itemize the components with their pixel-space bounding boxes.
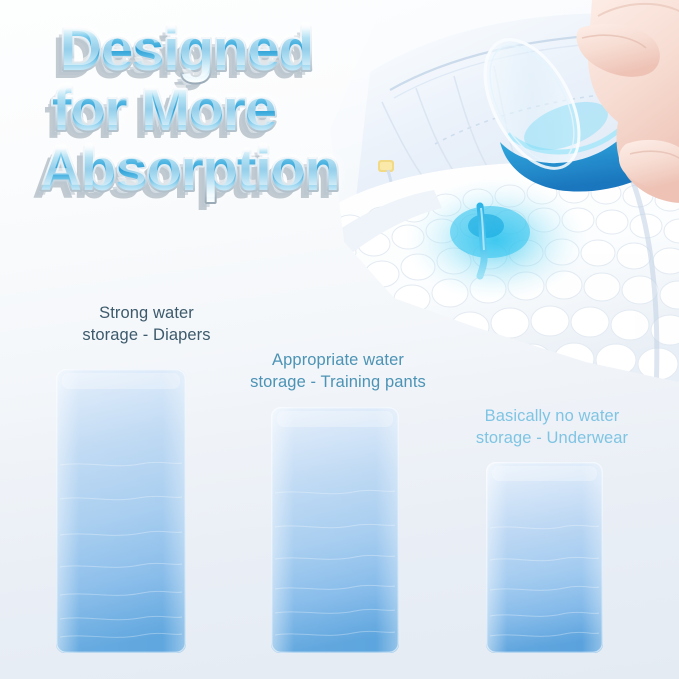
bar-training-pants bbox=[271, 407, 399, 653]
bar-underwear bbox=[486, 462, 603, 653]
bar-label-diapers: Strong water storage - Diapers bbox=[44, 303, 249, 347]
svg-text:for More: for More bbox=[52, 73, 276, 138]
infographic-canvas: Designed for More Absorption Designed fo… bbox=[0, 0, 679, 679]
bar-label-underwear: Basically no water storage - Underwear bbox=[452, 406, 652, 450]
bar-label-training-pants: Appropriate water storage - Training pan… bbox=[233, 350, 443, 394]
svg-text:Designed: Designed bbox=[60, 13, 313, 78]
bar-diapers bbox=[56, 369, 186, 653]
headline: Designed for More Absorption Designed fo… bbox=[34, 18, 434, 248]
svg-text:Absorption: Absorption bbox=[40, 133, 339, 198]
